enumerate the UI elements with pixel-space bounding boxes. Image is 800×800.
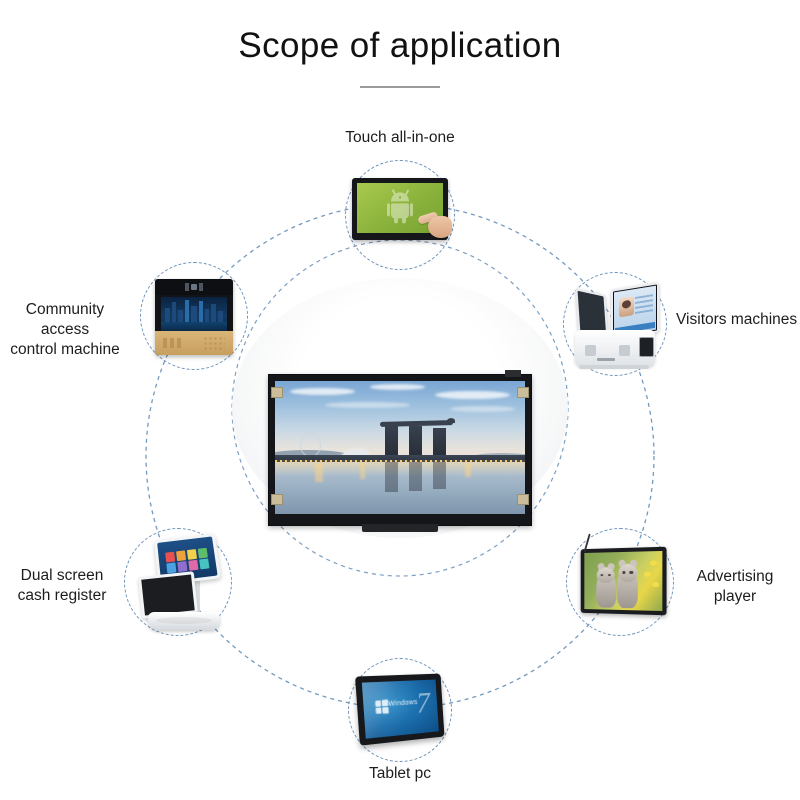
tablet-pc-icon: 7 Windows — [355, 674, 444, 746]
keypad-area — [155, 331, 233, 355]
card-reader-strip[interactable] — [163, 338, 183, 348]
id-scanner-module — [639, 337, 654, 357]
node-label-dual-screen-cash-register: Dual screen cash register — [6, 566, 118, 606]
screen-water-reflection — [161, 322, 227, 331]
advertising-display-icon — [581, 547, 667, 616]
lcd-mount-bracket — [517, 494, 529, 505]
windows-boot-screen: 7 Windows — [362, 680, 439, 739]
lcd-mount-bracket — [271, 387, 283, 398]
lcd-mount-bracket — [271, 494, 283, 505]
android-tablet-icon — [352, 178, 448, 240]
android-robot-icon — [387, 192, 413, 222]
pos-app-tiles — [165, 548, 210, 574]
numeric-keypad[interactable] — [203, 336, 225, 350]
advertising-screen — [584, 551, 662, 611]
pos-terminal-icon — [134, 534, 224, 630]
form-field-lines — [635, 294, 653, 315]
visitor-photo — [619, 296, 634, 317]
node-label-advertising-player: Advertising player — [676, 567, 794, 607]
kiosk-body — [575, 330, 655, 366]
lcd-display-panel[interactable] — [268, 374, 532, 526]
access-control-panel-icon — [155, 279, 233, 355]
lcd-connector — [505, 370, 521, 377]
infographic-canvas: Scope of application — [0, 0, 800, 800]
panel-camera-bar — [155, 279, 233, 295]
lcd-screen-image — [275, 381, 525, 514]
touching-hand-icon — [418, 208, 452, 238]
kitten-right — [617, 569, 637, 608]
node-label-tablet-pc: Tablet pc — [300, 764, 500, 784]
ferris-wheel — [300, 434, 321, 457]
lcd-mount-bracket — [517, 387, 529, 398]
water-surface — [275, 462, 525, 514]
visitor-kiosk-icon — [573, 282, 659, 366]
node-label-touch-all-in-one: Touch all-in-one — [280, 128, 520, 148]
lcd-base-foot — [362, 524, 438, 532]
panel-screen — [161, 297, 227, 331]
node-label-visitors-machines: Visitors machines — [676, 310, 800, 330]
kitten-left — [596, 572, 616, 608]
pos-base — [148, 612, 220, 630]
node-label-community-access-control-machine: Community access control machine — [0, 300, 130, 360]
camera-icon — [185, 283, 203, 291]
